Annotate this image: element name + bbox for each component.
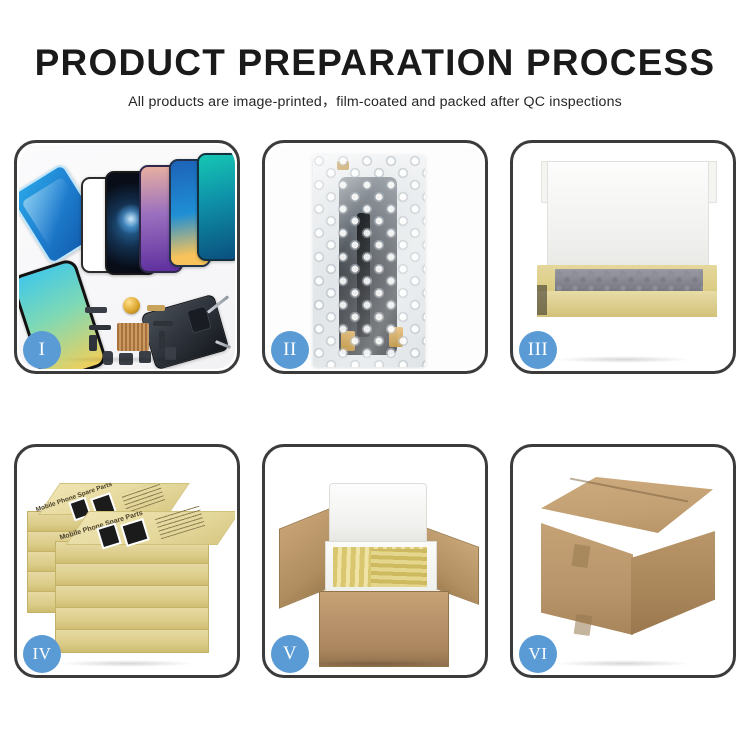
carton-body [319,591,449,667]
step-badge-2: II [271,331,309,369]
step-badge-5: V [271,635,309,673]
white-foam-liner [547,161,709,279]
process-step-grid: I II III [14,140,736,678]
stack-box-front-3 [55,585,209,609]
page-title: PRODUCT PREPARATION PROCESS [0,0,750,83]
gold-contact-strip [147,305,165,311]
flex-cable-part-d [159,331,165,349]
step-badge-4: IV [23,635,61,673]
stack-box-front-4 [55,607,209,631]
process-step-panel-5[interactable]: V [262,444,488,678]
carton-side-face [631,531,715,635]
stack-box-front-5 [55,629,209,653]
packed-product-boxes-stack [371,549,427,587]
carton-tape-lower [574,614,593,636]
flex-cable-part-a [89,325,111,330]
logic-board-part [117,323,149,351]
bubble-wrap-bag [313,155,425,367]
step-6-shadow [554,660,692,667]
page-subtitle: All products are image-printed，film-coat… [0,83,750,111]
step-5-shadow [306,660,444,667]
carton-tape-upper [572,544,591,568]
step-badge-3: III [519,331,557,369]
flex-cable-part-c [153,321,173,326]
page-header: PRODUCT PREPARATION PROCESS All products… [0,0,750,111]
process-step-panel-6[interactable]: VI [510,444,736,678]
step-1-shadow [58,356,196,363]
step-badge-1: I [23,331,61,369]
step-3-shadow [554,356,692,363]
carton-top-face [541,477,713,533]
plastic-sheen [313,155,425,367]
kraft-box-front-panel [537,291,717,317]
speaker-module-icon [123,297,140,314]
battery-connector-part [85,307,107,313]
flex-cable-part-b [89,335,97,351]
box-corner-shadow [537,285,547,315]
step-4-shadow [58,660,196,667]
process-step-panel-4[interactable]: Mobile Phone Spare Parts Mobile Phone Sp… [14,444,240,678]
process-step-panel-3[interactable]: III [510,140,736,374]
stack-box-front-2 [55,563,209,587]
step-badge-6: VI [519,635,557,673]
phone-display-teal [197,153,235,261]
process-step-panel-1[interactable]: I [14,140,240,374]
foam-lid [329,483,427,547]
process-step-panel-2[interactable]: II [262,140,488,374]
